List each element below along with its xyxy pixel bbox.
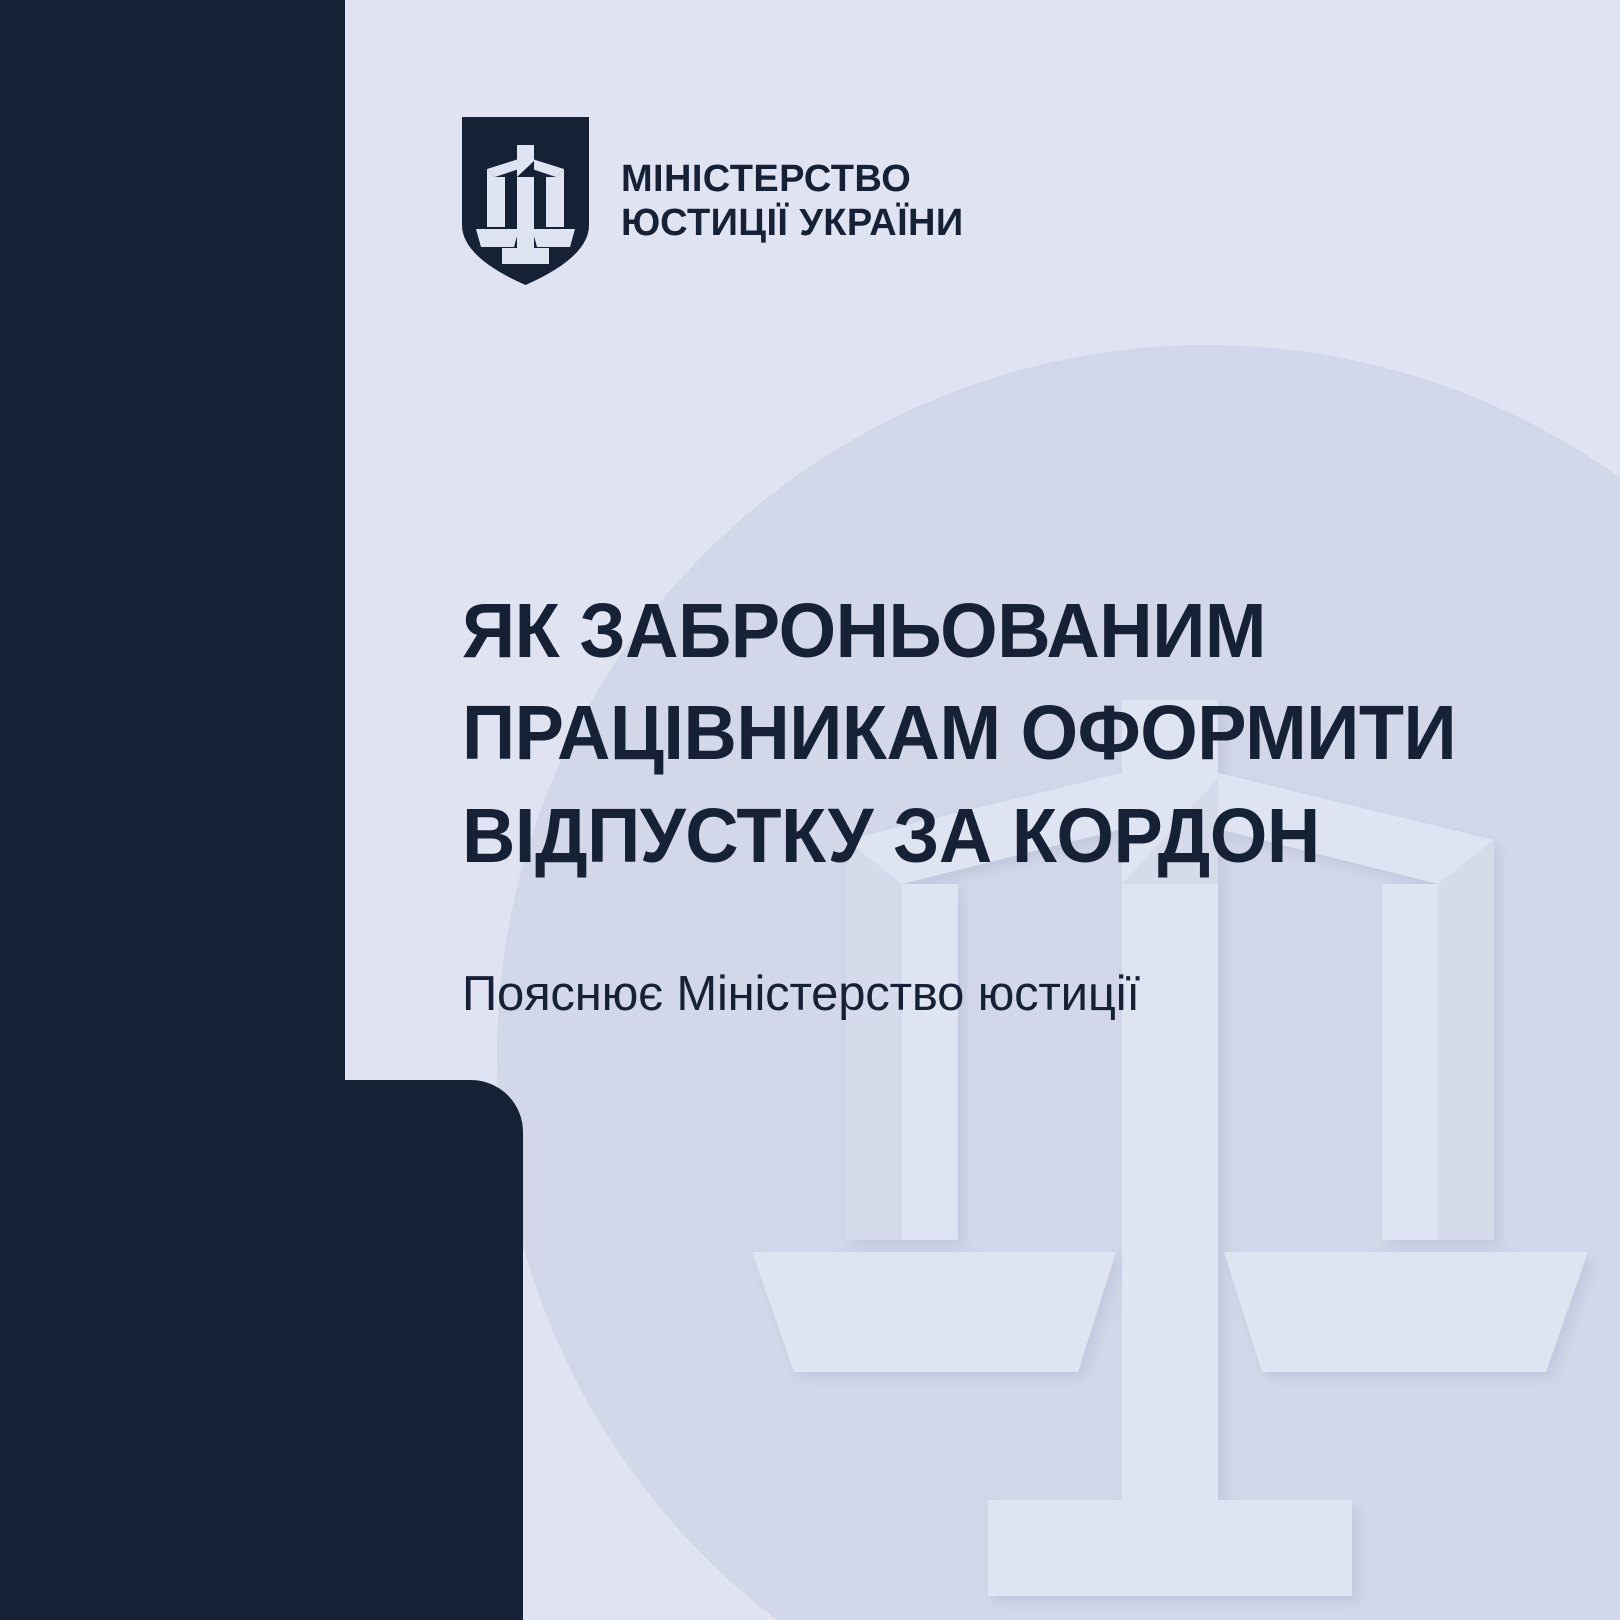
ministry-logo-text: МІНІСТЕРСТВО ЮСТИЦІЇ УКРАЇНИ: [621, 157, 964, 246]
ministry-logo: МІНІСТЕРСТВО ЮСТИЦІЇ УКРАЇНИ: [462, 117, 964, 285]
headline-block: ЯК ЗАБРОНЬОВАНИМ ПРАЦІВНИКАМ ОФОРМИТИ ВІ…: [462, 580, 1522, 1024]
page-subtitle: Пояснює Міністерство юстиції: [462, 887, 1522, 1024]
page-title: ЯК ЗАБРОНЬОВАНИМ ПРАЦІВНИКАМ ОФОРМИТИ ВІ…: [462, 580, 1480, 887]
left-dark-panel-foot: [0, 1080, 523, 1620]
justice-scales-shield-icon: [462, 117, 589, 285]
poster-canvas: МІНІСТЕРСТВО ЮСТИЦІЇ УКРАЇНИ ЯК ЗАБРОНЬО…: [0, 0, 1620, 1620]
